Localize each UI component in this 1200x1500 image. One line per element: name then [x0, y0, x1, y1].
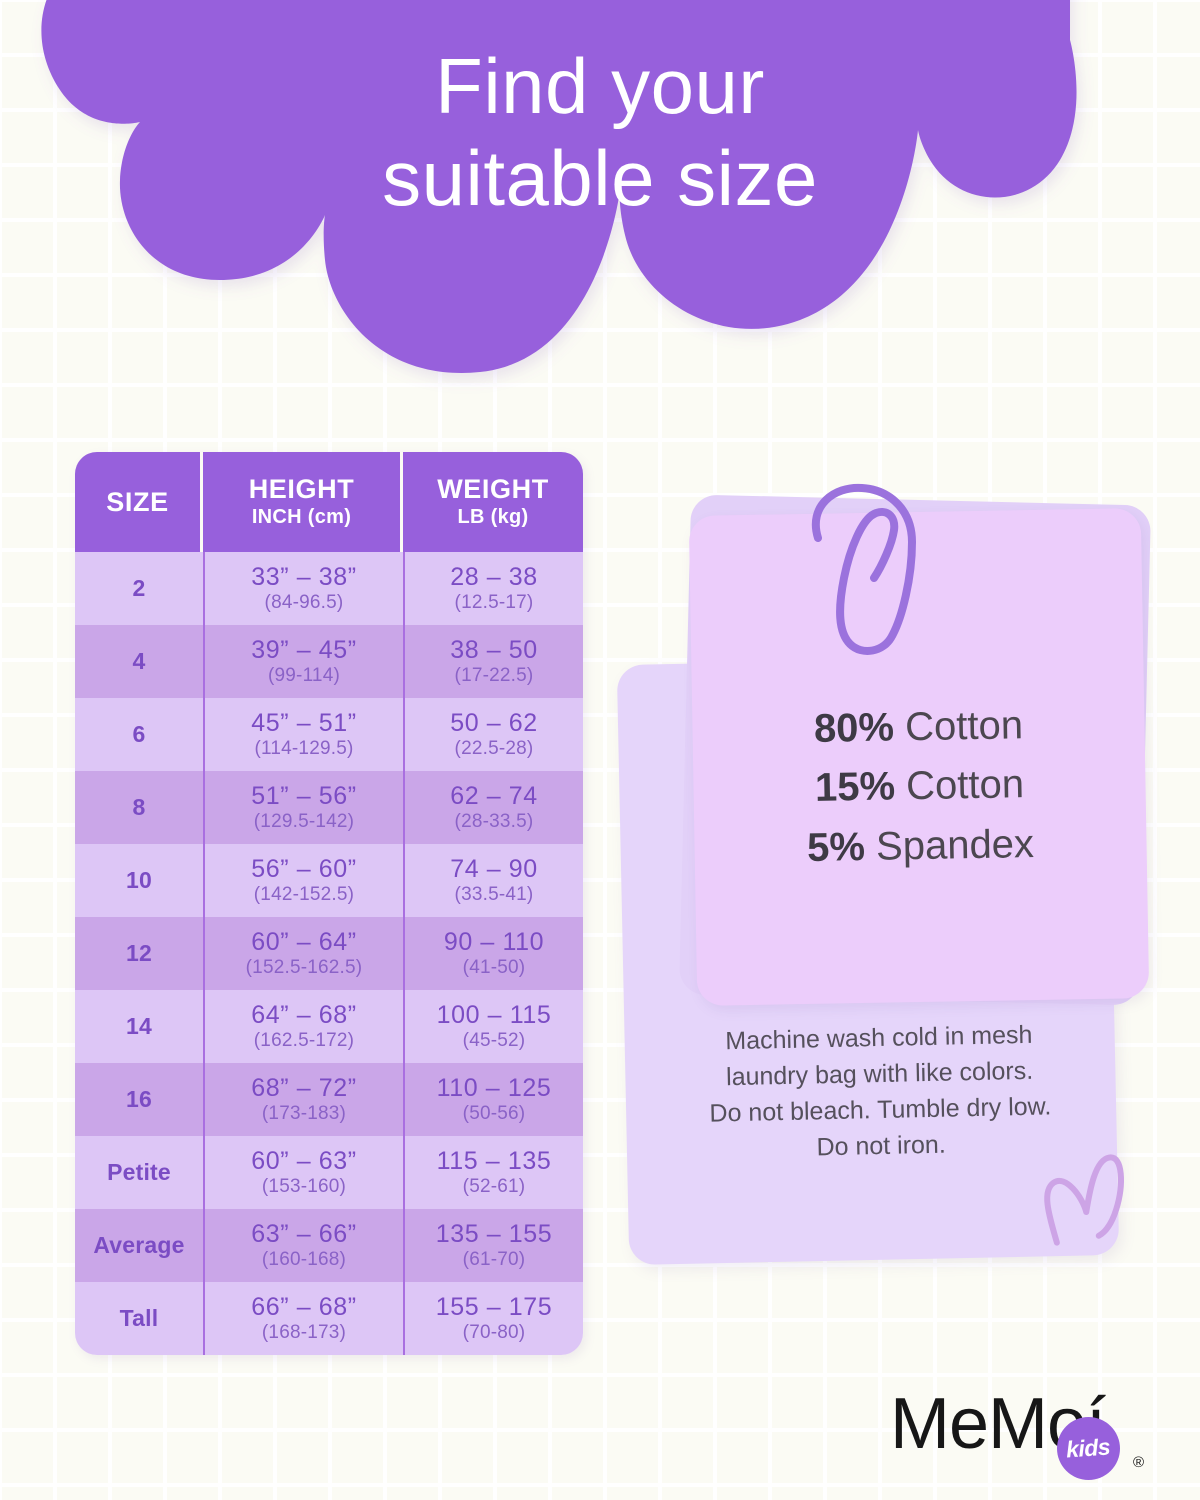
- cell-height: 60” – 63” (153-160): [203, 1136, 403, 1209]
- column-header-weight: WEIGHT LB (kg): [403, 452, 583, 552]
- cell-weight: 74 – 90 (33.5-41): [403, 844, 583, 917]
- table-row: Average 63” – 66” (160-168) 135 – 155 (6…: [75, 1209, 583, 1282]
- cell-height-inch: 63” – 66”: [251, 1220, 356, 1248]
- cell-size-label: 10: [126, 867, 152, 894]
- table-row: 14 64” – 68” (162.5-172) 100 – 115 (45-5…: [75, 990, 583, 1063]
- cell-height-inch: 60” – 63”: [251, 1147, 356, 1175]
- cell-height-cm: (84-96.5): [265, 591, 344, 615]
- cell-size: 12: [75, 917, 203, 990]
- cell-weight-lb: 115 – 135: [437, 1147, 552, 1175]
- column-header-height: HEIGHT INCH (cm): [203, 452, 403, 552]
- fabric-material: Spandex: [876, 822, 1035, 869]
- cell-weight: 62 – 74 (28-33.5): [403, 771, 583, 844]
- fabric-material: Cotton: [906, 763, 1025, 809]
- cell-size: 8: [75, 771, 203, 844]
- column-header-size-label: SIZE: [106, 487, 168, 517]
- cell-size-label: Average: [93, 1232, 184, 1259]
- column-header-height-unit: INCH (cm): [252, 504, 351, 530]
- cell-height-inch: 60” – 64”: [251, 928, 356, 956]
- table-row: 8 51” – 56” (129.5-142) 62 – 74 (28-33.5…: [75, 771, 583, 844]
- cell-height-inch: 68” – 72”: [251, 1074, 356, 1102]
- table-row: Tall 66” – 68” (168-173) 155 – 175 (70-8…: [75, 1282, 583, 1355]
- cell-size-label: 14: [126, 1013, 152, 1040]
- cell-size-label: 12: [126, 940, 152, 967]
- page-title-line-1: Find your: [0, 40, 1200, 132]
- cell-size-label: 8: [133, 794, 146, 821]
- cell-size: Average: [75, 1209, 203, 1282]
- cell-height-inch: 51” – 56”: [251, 782, 356, 810]
- table-row: 6 45” – 51” (114-129.5) 50 – 62 (22.5-28…: [75, 698, 583, 771]
- table-row: 16 68” – 72” (173-183) 110 – 125 (50-56): [75, 1063, 583, 1136]
- cell-weight-lb: 62 – 74: [450, 782, 538, 810]
- page-title-line-2: suitable size: [0, 132, 1200, 224]
- table-row: 12 60” – 64” (152.5-162.5) 90 – 110 (41-…: [75, 917, 583, 990]
- cell-height-cm: (153-160): [262, 1175, 346, 1199]
- cell-weight-kg: (50-56): [463, 1102, 526, 1126]
- cell-size-label: 4: [133, 648, 146, 675]
- cell-height-inch: 56” – 60”: [251, 855, 356, 883]
- cell-weight-kg: (70-80): [463, 1321, 526, 1345]
- cell-size: 16: [75, 1063, 203, 1136]
- cell-size: 14: [75, 990, 203, 1063]
- cell-height: 45” – 51” (114-129.5): [203, 698, 403, 771]
- cell-size: 6: [75, 698, 203, 771]
- cell-height: 66” – 68” (168-173): [203, 1282, 403, 1355]
- cell-height: 33” – 38” (84-96.5): [203, 552, 403, 625]
- logo-kids-label: kids: [1066, 1433, 1112, 1463]
- page-title: Find your suitable size: [0, 40, 1200, 224]
- fabric-line: 80% Cotton: [813, 696, 1023, 759]
- cell-weight: 100 – 115 (45-52): [403, 990, 583, 1063]
- table-row: 2 33” – 38” (84-96.5) 28 – 38 (12.5-17): [75, 552, 583, 625]
- cell-height-cm: (160-168): [262, 1248, 346, 1272]
- cell-size: Petite: [75, 1136, 203, 1209]
- cell-height-cm: (99-114): [268, 664, 340, 688]
- cell-weight-kg: (33.5-41): [455, 883, 534, 907]
- cell-weight: 28 – 38 (12.5-17): [403, 552, 583, 625]
- cell-height-cm: (168-173): [262, 1321, 346, 1345]
- cell-weight: 50 – 62 (22.5-28): [403, 698, 583, 771]
- cell-size: Tall: [75, 1282, 203, 1355]
- care-info-panel: 80% Cotton 15% Cotton 5% Spandex Machine…: [615, 490, 1155, 1280]
- fabric-percent: 15%: [815, 765, 896, 810]
- cell-size-label: 2: [133, 575, 146, 602]
- cell-weight-kg: (52-61): [463, 1175, 526, 1199]
- cell-height: 60” – 64” (152.5-162.5): [203, 917, 403, 990]
- cell-size: 2: [75, 552, 203, 625]
- cell-weight-kg: (12.5-17): [455, 591, 534, 615]
- table-row: 4 39” – 45” (99-114) 38 – 50 (17-22.5): [75, 625, 583, 698]
- brand-logo: MeMoí kids ®: [890, 1388, 1150, 1478]
- cell-weight-lb: 28 – 38: [450, 563, 538, 591]
- column-header-height-label: HEIGHT: [249, 474, 355, 504]
- cell-height-inch: 45” – 51”: [251, 709, 356, 737]
- cell-height: 64” – 68” (162.5-172): [203, 990, 403, 1063]
- cell-height-cm: (129.5-142): [254, 810, 354, 834]
- cell-height-cm: (142-152.5): [254, 883, 354, 907]
- cell-weight: 38 – 50 (17-22.5): [403, 625, 583, 698]
- fabric-line: 5% Spandex: [807, 815, 1035, 878]
- column-header-weight-unit: LB (kg): [458, 504, 529, 530]
- cell-weight: 155 – 175 (70-80): [403, 1282, 583, 1355]
- cell-weight-kg: (22.5-28): [455, 737, 534, 761]
- fabric-percent: 5%: [807, 825, 866, 870]
- cell-weight-kg: (61-70): [463, 1248, 526, 1272]
- cell-weight-lb: 38 – 50: [450, 636, 538, 664]
- cell-weight-lb: 110 – 125: [437, 1074, 552, 1102]
- cell-size: 10: [75, 844, 203, 917]
- cell-height-cm: (114-129.5): [254, 737, 353, 761]
- cell-weight: 90 – 110 (41-50): [403, 917, 583, 990]
- cell-height-cm: (173-183): [262, 1102, 346, 1126]
- cell-height: 68” – 72” (173-183): [203, 1063, 403, 1136]
- cell-weight: 110 – 125 (50-56): [403, 1063, 583, 1136]
- cell-size-label: Tall: [120, 1305, 159, 1332]
- cell-weight: 135 – 155 (61-70): [403, 1209, 583, 1282]
- cell-size: 4: [75, 625, 203, 698]
- cell-weight-lb: 50 – 62: [450, 709, 538, 737]
- cell-height-inch: 64” – 68”: [251, 1001, 356, 1029]
- registered-trademark-symbol: ®: [1133, 1454, 1144, 1471]
- cell-height: 56” – 60” (142-152.5): [203, 844, 403, 917]
- cell-height: 51” – 56” (129.5-142): [203, 771, 403, 844]
- care-instructions: Machine wash cold in mesh laundry bag wi…: [644, 1015, 1117, 1169]
- cell-weight-lb: 100 – 115: [437, 1001, 552, 1029]
- cell-size-label: 6: [133, 721, 146, 748]
- paperclip-icon: [800, 478, 930, 658]
- cell-height-inch: 66” – 68”: [251, 1293, 356, 1321]
- cell-weight-lb: 90 – 110: [444, 928, 544, 956]
- logo-kids-badge: kids: [1057, 1417, 1120, 1480]
- cell-weight-lb: 155 – 175: [436, 1293, 553, 1321]
- cell-height-cm: (162.5-172): [254, 1029, 354, 1053]
- table-row: 10 56” – 60” (142-152.5) 74 – 90 (33.5-4…: [75, 844, 583, 917]
- table-header-row: SIZE HEIGHT INCH (cm) WEIGHT LB (kg): [75, 452, 583, 552]
- cell-weight-kg: (41-50): [463, 956, 526, 980]
- cell-height-inch: 33” – 38”: [251, 563, 356, 591]
- cell-weight-kg: (45-52): [463, 1029, 526, 1053]
- cell-height: 63” – 66” (160-168): [203, 1209, 403, 1282]
- column-header-size: SIZE: [75, 452, 203, 552]
- fabric-material: Cotton: [905, 703, 1024, 749]
- cell-weight-lb: 135 – 155: [436, 1220, 553, 1248]
- fabric-line: 15% Cotton: [814, 756, 1024, 819]
- cell-weight-kg: (17-22.5): [455, 664, 534, 688]
- cell-size-label: 16: [126, 1086, 152, 1113]
- column-header-weight-label: WEIGHT: [437, 474, 549, 504]
- cell-weight-lb: 74 – 90: [450, 855, 538, 883]
- size-chart-table: SIZE HEIGHT INCH (cm) WEIGHT LB (kg) 2 3…: [75, 452, 583, 1355]
- cell-height-cm: (152.5-162.5): [246, 956, 363, 980]
- cell-size-label: Petite: [107, 1159, 171, 1186]
- heart-doodle-icon: [1039, 1149, 1136, 1251]
- cell-weight-kg: (28-33.5): [455, 810, 534, 834]
- table-row: Petite 60” – 63” (153-160) 115 – 135 (52…: [75, 1136, 583, 1209]
- cell-height: 39” – 45” (99-114): [203, 625, 403, 698]
- cell-weight: 115 – 135 (52-61): [403, 1136, 583, 1209]
- fabric-percent: 80%: [814, 706, 895, 751]
- cell-height-inch: 39” – 45”: [251, 636, 356, 664]
